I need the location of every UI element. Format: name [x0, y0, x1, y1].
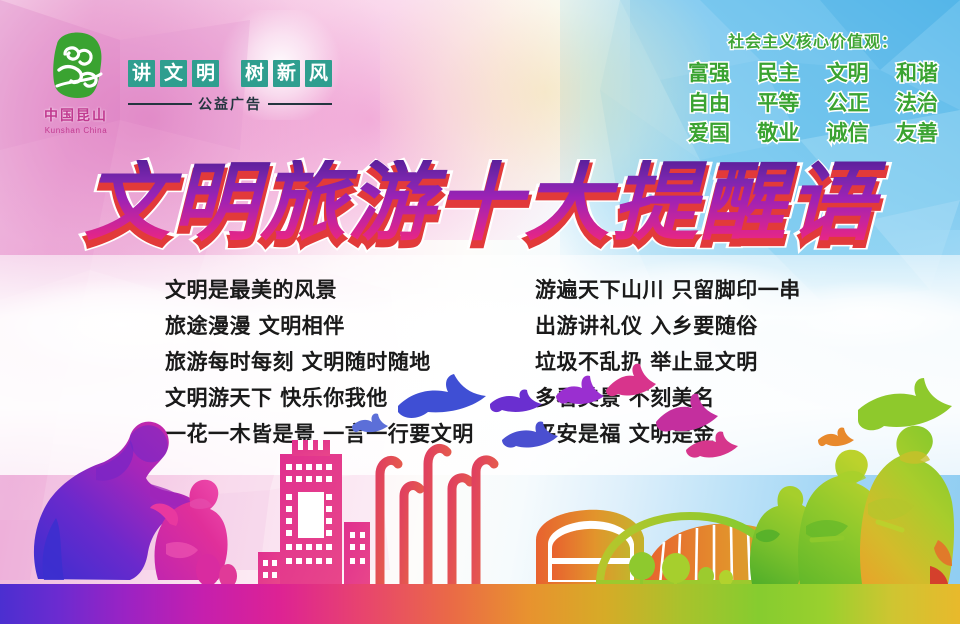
core-values-row-3: 爱国 敬业 诚信 友善	[688, 121, 938, 145]
core-values-row-2: 自由 平等 公正 法治	[688, 91, 938, 115]
core-value-pingdeng: 平等	[757, 91, 799, 115]
reminder-item: 文明是最美的风景	[165, 272, 535, 308]
logo-name-en: Kunshan China	[28, 126, 124, 135]
slogan-char-2: 文	[160, 60, 187, 87]
poster-canvas: 中国昆山 Kunshan China 讲 文 明 树 新 风 公益广告 社会主义…	[0, 0, 960, 624]
core-value-gongzheng: 公正	[827, 91, 869, 115]
core-value-jingye: 敬业	[757, 121, 799, 145]
core-value-fazhi: 法治	[896, 91, 938, 115]
illustration-art	[0, 344, 960, 624]
holding-hands-1	[812, 538, 842, 540]
birds-group	[352, 364, 952, 458]
bird-icon	[556, 376, 604, 404]
slogan-char-6: 风	[305, 60, 332, 87]
ground-strip	[0, 584, 960, 624]
reminder-item: 出游讲礼仪 入乡要随俗	[535, 308, 895, 344]
bird-icon	[858, 378, 952, 430]
bottom-illustration	[0, 344, 960, 624]
core-value-minzhu: 民主	[757, 61, 799, 85]
kunshan-logo: 中国昆山 Kunshan China	[28, 30, 124, 135]
campaign-slogan: 讲 文 明 树 新 风 公益广告	[128, 60, 332, 114]
core-value-hexie: 和谐	[896, 61, 938, 85]
core-values-title: 社会主义核心价值观：	[688, 28, 938, 52]
logo-name-cn: 中国昆山	[28, 105, 124, 125]
figure-family-father	[860, 426, 954, 584]
slogan-char-1: 讲	[128, 60, 155, 87]
bird-icon	[606, 364, 656, 396]
bird-icon	[656, 394, 718, 432]
bird-icon	[502, 421, 558, 447]
landmark-building	[258, 440, 370, 584]
core-value-wenming: 文明	[827, 61, 869, 85]
core-value-youshan: 友善	[896, 121, 938, 145]
core-value-ziyou: 自由	[688, 91, 730, 115]
core-values-block: 社会主义核心价值观： 富强 民主 文明 和谐 自由 平等 公正 法治 爱国 敬业…	[688, 28, 938, 151]
slogan-char-5: 新	[273, 60, 300, 87]
reminder-item: 游遍天下山川 只留脚印一串	[535, 272, 895, 308]
rule-right	[268, 103, 332, 105]
tree-right-3	[698, 567, 714, 585]
bird-icon	[686, 431, 738, 457]
bird-icon	[490, 389, 542, 412]
campaign-slogan-chars: 讲 文 明 树 新 风	[128, 60, 332, 87]
slogan-char-4: 树	[241, 60, 268, 87]
reminder-item: 旅途漫漫 文明相伴	[165, 308, 535, 344]
kunshan-emblem-icon	[45, 30, 107, 100]
slogan-char-3: 明	[192, 60, 219, 87]
bird-icon	[398, 374, 486, 418]
rule-left	[128, 103, 192, 105]
page-title-text: 文明旅游十大提醒语	[0, 160, 960, 246]
bird-icon	[818, 427, 854, 446]
campaign-subtitle-row: 公益广告	[128, 94, 332, 114]
landmark-sculpture-pillars	[380, 448, 494, 584]
bird-icon	[352, 413, 388, 432]
page-title: 文明旅游十大提醒语 文明旅游十大提醒语 文明旅游十大提醒语	[0, 160, 960, 246]
core-value-aiguo: 爱国	[688, 121, 730, 145]
core-value-chengxin: 诚信	[827, 121, 869, 145]
core-values-row-1: 富强 民主 文明 和谐	[688, 61, 938, 85]
campaign-subtitle: 公益广告	[198, 94, 262, 114]
core-value-fuqiang: 富强	[688, 61, 730, 85]
